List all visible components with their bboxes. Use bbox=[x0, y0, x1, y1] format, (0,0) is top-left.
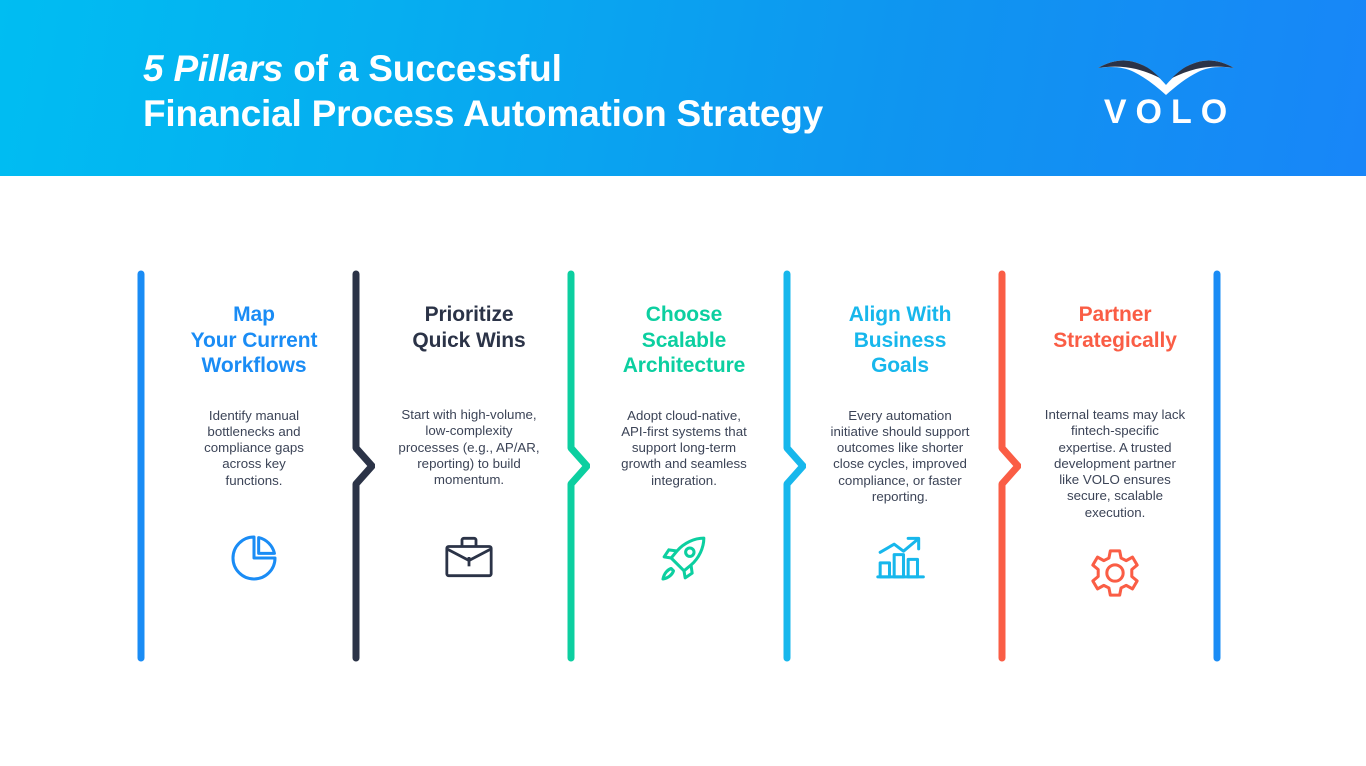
header-banner: 5 Pillars of a Successful Financial Proc… bbox=[0, 0, 1366, 176]
divider-6 bbox=[1212, 270, 1236, 662]
pillar-heading-3: Choose Scalable Architecture bbox=[586, 302, 782, 379]
page-title-rest: of a Successful bbox=[283, 48, 562, 89]
pillar-heading-4: Align With Business Goals bbox=[802, 302, 998, 379]
pillar-card-choose-scalable-architecture: Choose Scalable Architecture Adopt cloud… bbox=[586, 302, 782, 591]
bar-chart-growth-icon bbox=[872, 529, 928, 585]
pillar-heading-2: Prioritize Quick Wins bbox=[371, 302, 567, 353]
pillar-body-3: Adopt cloud-native, API-first systems th… bbox=[586, 408, 782, 489]
pillar-body-2: Start with high-volume, low-complexity p… bbox=[371, 407, 567, 488]
volo-logo: VOLO bbox=[1088, 52, 1243, 134]
briefcase-icon bbox=[441, 529, 497, 585]
rocket-icon bbox=[656, 530, 712, 586]
volo-wordmark: VOLO bbox=[1088, 92, 1243, 132]
pillar-card-prioritize-quick-wins: Prioritize Quick Wins Start with high-vo… bbox=[371, 302, 567, 590]
pillar-body-5: Internal teams may lack fintech-specific… bbox=[1017, 407, 1213, 521]
pillar-body-1: Identify manual bottlenecks and complian… bbox=[156, 408, 352, 489]
pillar-card-align-with-business-goals: Align With Business Goals Every automati… bbox=[802, 302, 998, 590]
pie-chart-icon bbox=[226, 530, 282, 586]
page-title-line2: Financial Process Automation Strategy bbox=[143, 91, 823, 136]
pillar-heading-1: Map Your Current Workflows bbox=[156, 302, 352, 379]
pillar-heading-5: Partner Strategically bbox=[1017, 302, 1213, 353]
page-title: 5 Pillars of a Successful Financial Proc… bbox=[143, 46, 823, 136]
page-title-emphasis: 5 Pillars bbox=[143, 48, 283, 89]
gear-icon bbox=[1087, 545, 1143, 601]
pillar-card-map-your-current-workflows: Map Your Current Workflows Identify manu… bbox=[156, 302, 352, 591]
pillar-body-4: Every automation initiative should suppo… bbox=[802, 408, 998, 506]
volo-bird-mark-icon bbox=[1096, 52, 1236, 96]
pillars-section: Map Your Current Workflows Identify manu… bbox=[0, 176, 1366, 766]
pillar-card-partner-strategically: Partner Strategically Internal teams may… bbox=[1017, 302, 1213, 606]
